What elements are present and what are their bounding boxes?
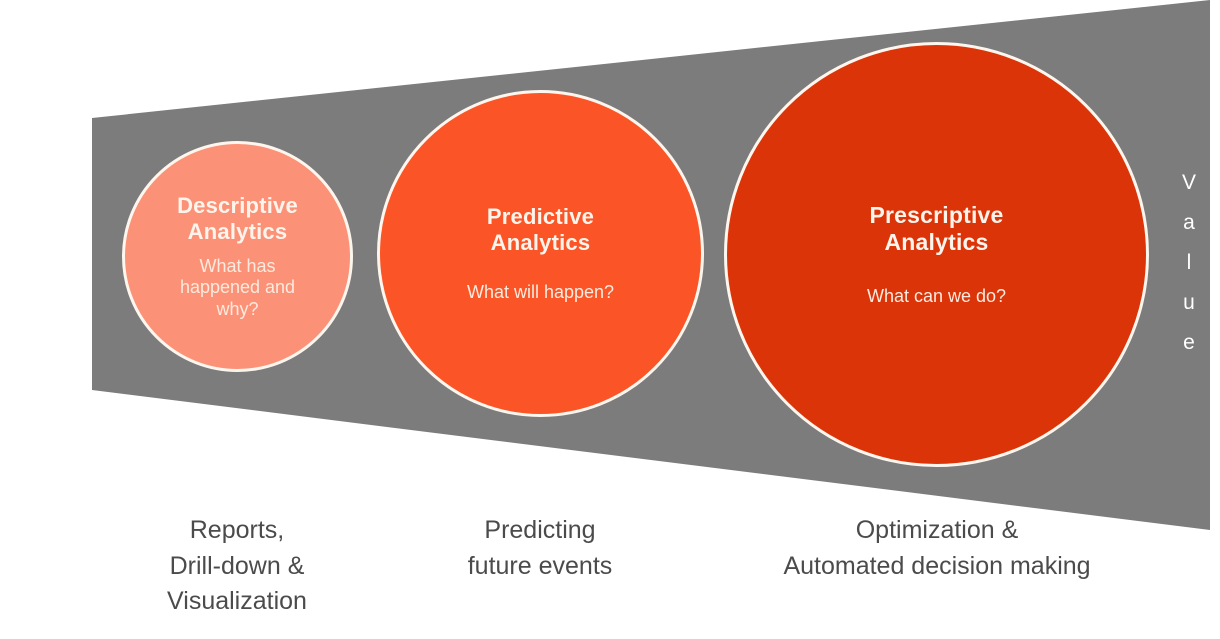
stage-question-prescriptive: What can we do? <box>867 286 1006 308</box>
stage-caption-prescriptive: Optimization & Automated decision making <box>712 513 1162 584</box>
diagram-canvas: Descriptive Analytics What has happened … <box>0 0 1220 639</box>
stage-circle-predictive[interactable]: Predictive Analytics What will happen? <box>377 90 704 417</box>
value-letter: V <box>1182 163 1196 203</box>
stage-caption-descriptive: Reports, Drill-down & Visualization <box>97 513 377 620</box>
stage-title-descriptive: Descriptive Analytics <box>177 193 298 245</box>
value-letter: u <box>1183 283 1195 323</box>
stage-caption-predictive: Predicting future events <box>400 513 680 584</box>
stage-question-descriptive: What has happened and why? <box>180 256 295 321</box>
value-axis-label: V a l u e <box>1172 163 1206 363</box>
stage-circle-descriptive[interactable]: Descriptive Analytics What has happened … <box>122 141 353 372</box>
stage-title-predictive: Predictive Analytics <box>487 204 594 256</box>
stage-title-prescriptive: Prescriptive Analytics <box>869 202 1003 256</box>
stage-circle-prescriptive[interactable]: Prescriptive Analytics What can we do? <box>724 42 1149 467</box>
value-letter: l <box>1187 243 1192 283</box>
stage-question-predictive: What will happen? <box>467 282 614 304</box>
value-letter: e <box>1183 323 1195 363</box>
value-letter: a <box>1183 203 1195 243</box>
